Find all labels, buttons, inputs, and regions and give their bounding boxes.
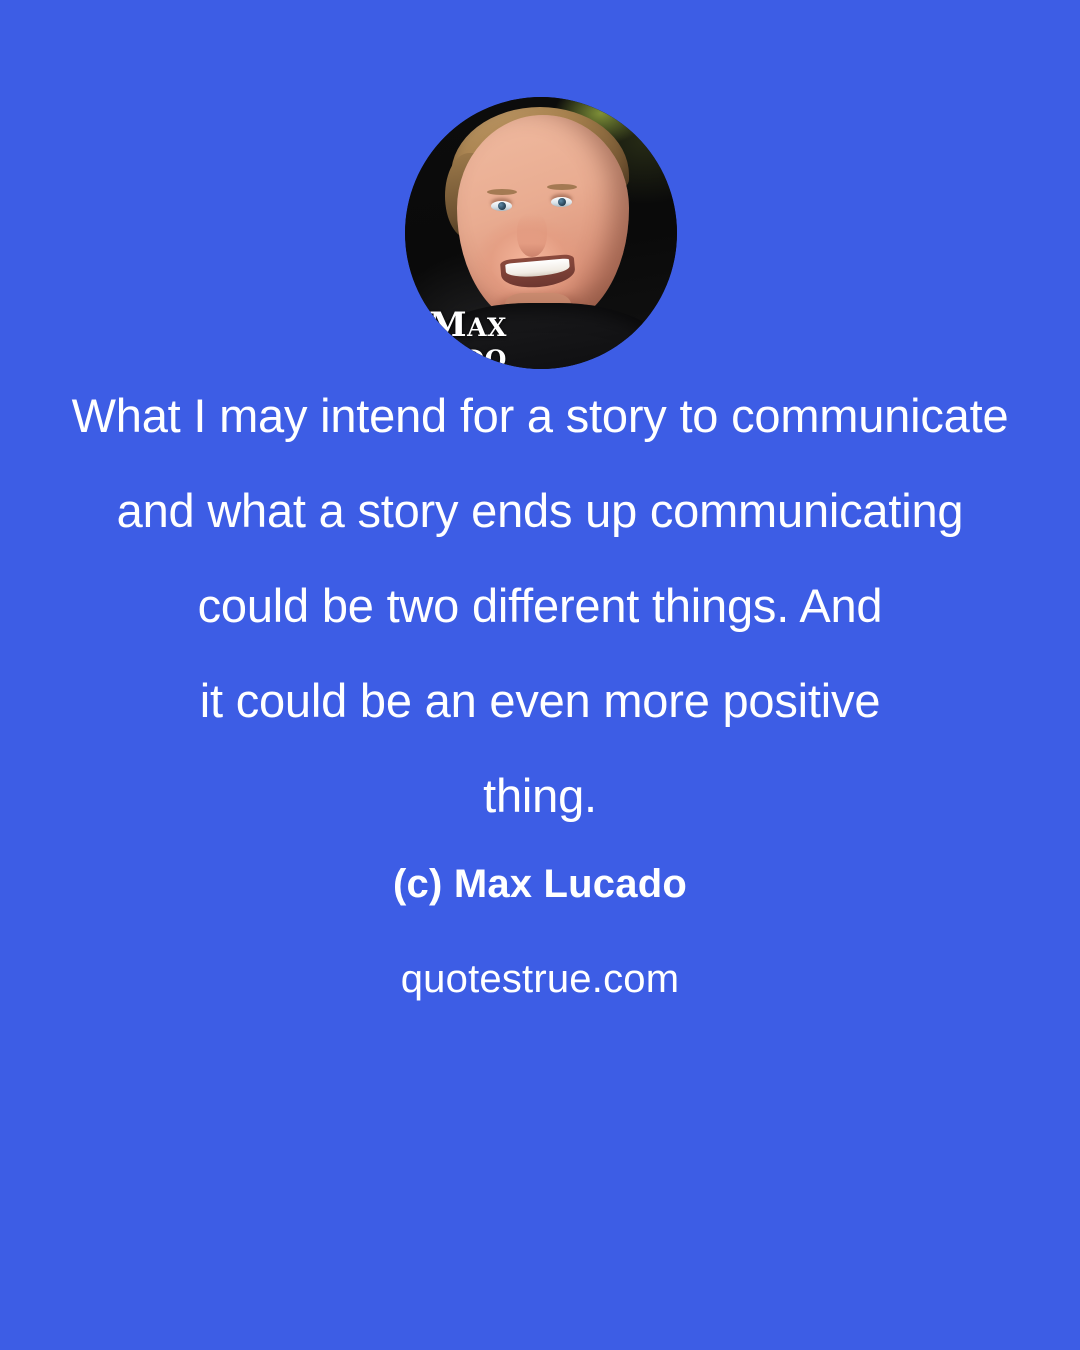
pupil-left: [498, 202, 506, 210]
eyebrow-left: [487, 189, 517, 195]
pupil-right: [558, 198, 566, 206]
source-website: quotestrue.com: [0, 957, 1080, 1002]
author-photo: MAX CADO: [405, 97, 677, 369]
eye-left: [491, 201, 512, 211]
quote-text: What I may intend for a story to communi…: [0, 368, 1080, 843]
quote-line: and what a story ends up communicating: [0, 463, 1080, 558]
eyebrow-right: [547, 184, 577, 190]
teeth-shape: [505, 258, 570, 279]
quote-line: could be two different things. And: [0, 558, 1080, 653]
avatar: MAX CADO: [405, 97, 677, 369]
quote-card: MAX CADO What I may intend for a story t…: [0, 0, 1080, 1350]
quote-attribution: (c) Max Lucado: [0, 862, 1080, 907]
nose-shape: [517, 213, 547, 257]
quote-line: it could be an even more positive: [0, 653, 1080, 748]
shirt-shape: [419, 303, 669, 369]
quote-line: thing.: [0, 748, 1080, 843]
eye-right: [551, 197, 572, 207]
quote-line: What I may intend for a story to communi…: [0, 368, 1080, 463]
